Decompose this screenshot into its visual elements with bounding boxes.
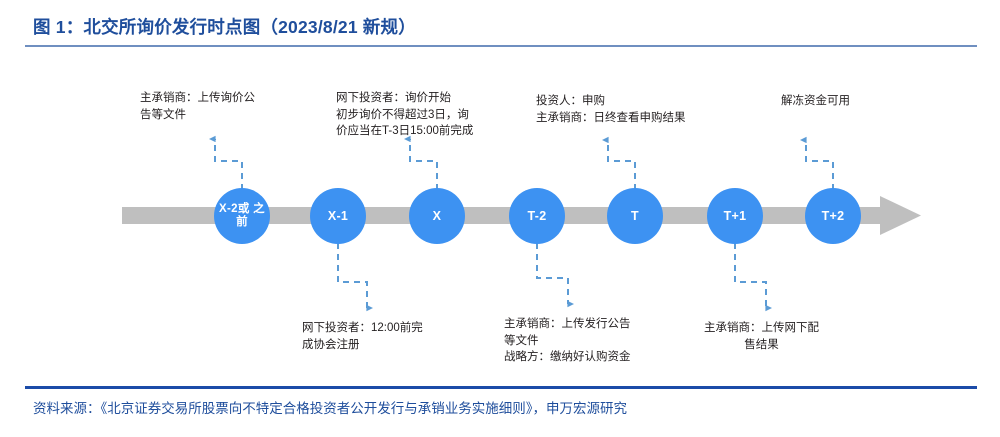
timeline-node-t-plus-2[interactable]: T+2	[805, 188, 861, 244]
timeline-node-x[interactable]: X	[409, 188, 465, 244]
source-note: 资料来源：《北京证券交易所股票向不特定合格投资者公开发行与承销业务实施细则》，申…	[33, 397, 627, 417]
connector-x-2-up	[215, 139, 242, 190]
annotation-below-t-minus-2: 主承销商：上传发行公告 等文件 战略方：缴纳好认购资金	[504, 316, 631, 366]
connector-x-up	[410, 139, 437, 190]
annotation-above-t-plus-2: 解冻资金可用	[781, 93, 850, 110]
connector-x-1-down	[338, 243, 367, 308]
connector-t-up	[608, 140, 635, 190]
timeline-node-t-plus-1[interactable]: T+1	[707, 188, 763, 244]
connector-t2-up	[806, 140, 833, 190]
figure-container: 图 1：北交所询价发行时点图（2023/8/21 新规）	[0, 0, 1000, 437]
timeline-node-x-minus-2[interactable]: X-2或 之前	[214, 188, 270, 244]
annotation-above-t: 投资人：申购 主承销商：日终查看申购结果	[536, 93, 686, 126]
annotation-above-x: 网下投资者：询价开始 初步询价不得超过3日，询 价应当在T-3日15:00前完成	[336, 90, 473, 140]
annotation-above-x-minus-2: 主承销商：上传询价公 告等文件	[140, 90, 255, 123]
timeline-node-t-minus-2[interactable]: T-2	[509, 188, 565, 244]
annotation-below-t-plus-1: 主承销商：上传网下配 售结果	[704, 320, 819, 353]
connector-t-2-down	[537, 243, 568, 304]
timeline-node-x-minus-1[interactable]: X-1	[310, 188, 366, 244]
annotation-below-x-minus-1: 网下投资者：12:00前完 成协会注册	[302, 320, 423, 353]
connector-t1-down	[735, 243, 766, 308]
timeline-node-t[interactable]: T	[607, 188, 663, 244]
footer-divider	[25, 386, 977, 389]
